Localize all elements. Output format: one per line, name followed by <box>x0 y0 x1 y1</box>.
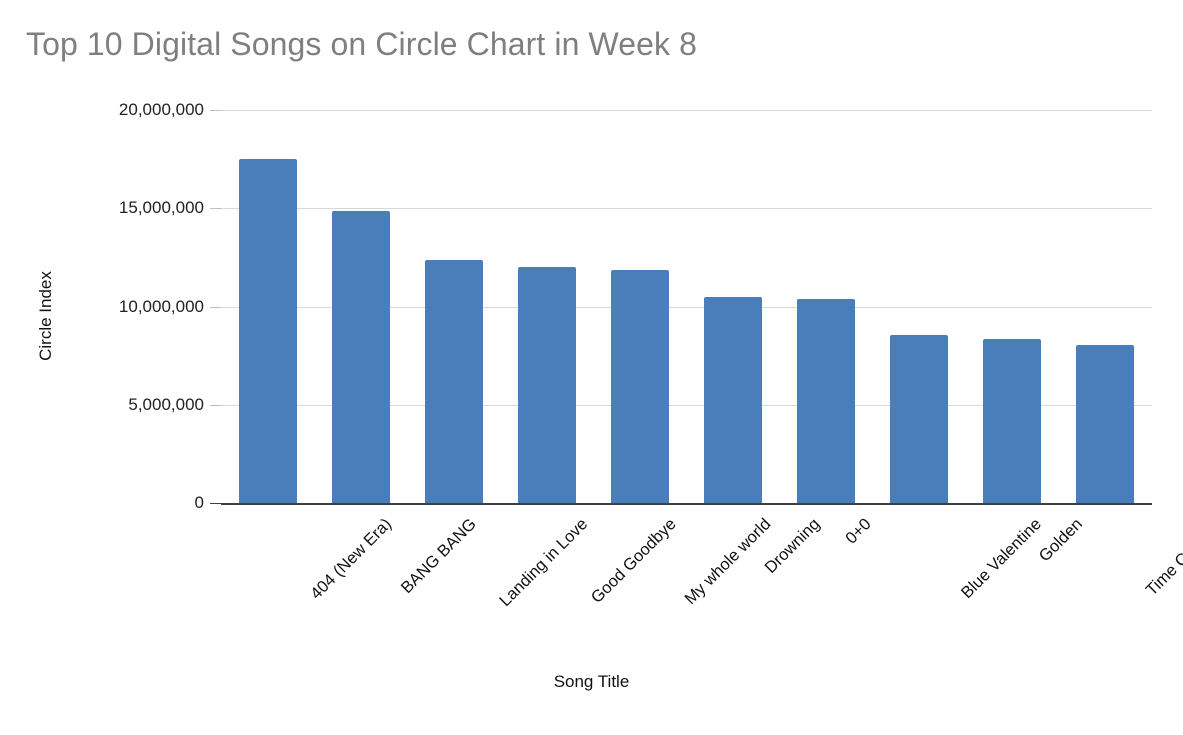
y-axis-tick-label: 20,000,000 <box>119 100 204 120</box>
bar[interactable] <box>1076 345 1134 503</box>
y-axis-tick-label: 15,000,000 <box>119 198 204 218</box>
y-axis-tick-labels: 20,000,00015,000,00010,000,0005,000,0000 <box>0 0 204 735</box>
bar[interactable] <box>797 299 855 503</box>
bar[interactable] <box>332 211 390 503</box>
bar-chart: Top 10 Digital Songs on Circle Chart in … <box>0 0 1183 735</box>
x-axis-tick-label: BANG BANG <box>397 515 480 598</box>
y-axis-tick-label: 5,000,000 <box>128 395 204 415</box>
x-axis-tick-label: My whole world <box>681 515 775 609</box>
x-axis-tick-label: Time Capsule <box>1143 515 1183 600</box>
plot-area <box>221 110 1152 503</box>
bar[interactable] <box>239 159 297 503</box>
bar[interactable] <box>983 339 1041 503</box>
gridline <box>221 110 1152 111</box>
x-axis-tick-label: Landing in Love <box>496 515 592 611</box>
y-axis-tick-mark <box>210 110 221 111</box>
bar[interactable] <box>425 260 483 503</box>
x-axis-tick-label: Golden <box>1036 515 1087 566</box>
x-axis-line <box>221 503 1152 505</box>
x-axis-tick-label: 404 (New Era) <box>307 515 396 604</box>
x-axis-tick-label: Blue Valentine <box>958 515 1046 603</box>
bar[interactable] <box>611 270 669 503</box>
gridline <box>221 208 1152 209</box>
y-axis-tick-mark <box>210 307 221 308</box>
bar[interactable] <box>518 267 576 503</box>
bar[interactable] <box>890 335 948 503</box>
y-axis-tick-mark <box>210 405 221 406</box>
y-axis-tick-mark <box>210 208 221 209</box>
y-axis-tick-label: 0 <box>195 493 204 513</box>
x-axis-title: Song Title <box>0 672 1183 692</box>
x-axis-tick-label: 0+0 <box>842 515 875 548</box>
y-axis-tick-mark <box>210 503 221 504</box>
y-axis-title: Circle Index <box>36 246 56 386</box>
bar[interactable] <box>704 297 762 503</box>
x-axis-tick-label: Good Goodbye <box>588 515 681 608</box>
y-axis-tick-label: 10,000,000 <box>119 297 204 317</box>
